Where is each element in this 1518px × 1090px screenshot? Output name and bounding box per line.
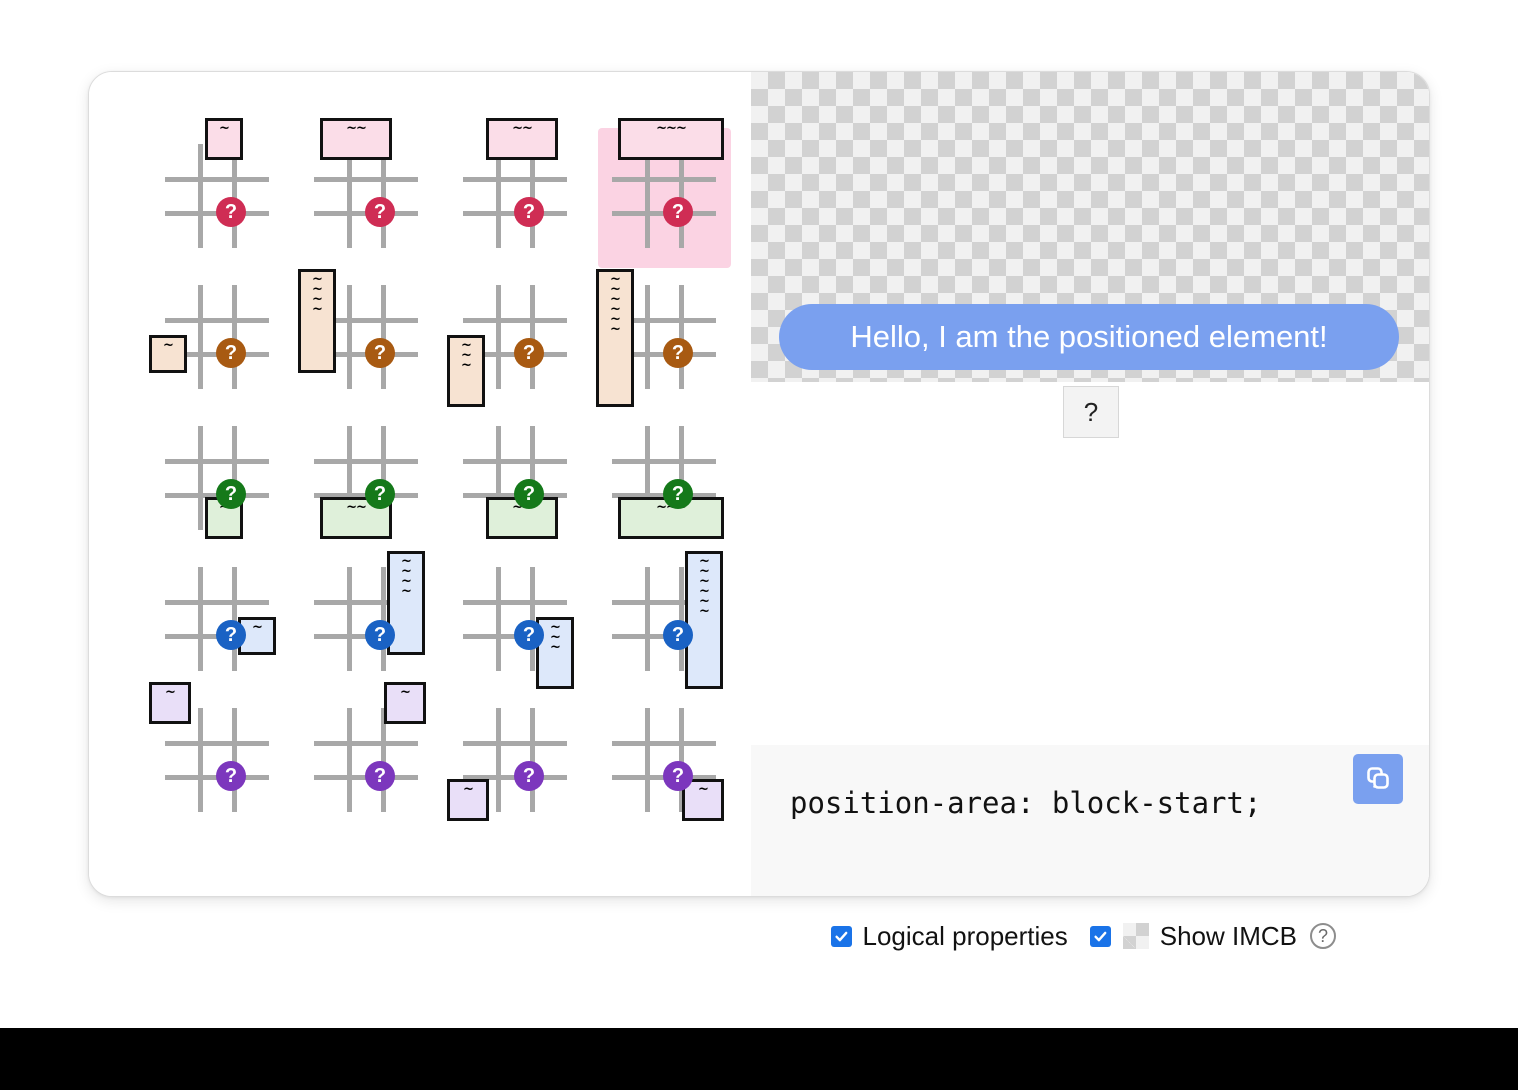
text-placeholder-line: ~ — [400, 688, 410, 698]
position-area-tile[interactable]: ~~~? — [598, 410, 731, 550]
tile-anchor-dot: ? — [365, 479, 395, 509]
containing-block-grid: ~~? — [463, 426, 567, 530]
grid-line — [347, 285, 352, 389]
containing-block-grid: ~~~~? — [314, 567, 418, 671]
text-placeholder-line: ~ — [252, 623, 262, 633]
tile-anchor-dot: ? — [663, 620, 693, 650]
position-area-tile[interactable]: ~~? — [449, 128, 582, 268]
tile-anchor-dot: ? — [514, 338, 544, 368]
tile-positioned-box: ~~~~ — [298, 269, 336, 373]
tile-anchor-dot: ? — [365, 338, 395, 368]
containing-block-grid: ~~? — [463, 144, 567, 248]
text-placeholder-line: ~ — [163, 341, 173, 351]
tile-anchor-dot: ? — [365, 197, 395, 227]
grid-line — [347, 708, 352, 812]
text-placeholder-line: ~~ — [346, 124, 366, 134]
position-area-explorer-card: ~?~~?~~?~~~?~?~~~~?~~~?~~~~~~?~?~~?~~?~~… — [88, 71, 1430, 897]
tile-anchor-dot: ? — [216, 197, 246, 227]
imcb-checkerboard-area: Hello, I am the positioned element! — [751, 72, 1429, 382]
grid-line — [612, 459, 716, 464]
position-area-tile[interactable]: ~? — [151, 128, 284, 268]
containing-block-grid: ~~~? — [463, 285, 567, 389]
tile-positioned-box: ~~~~~~ — [596, 269, 634, 407]
position-area-tile[interactable]: ~? — [300, 692, 433, 832]
text-placeholder-line: ~ — [461, 361, 471, 371]
grid-line — [314, 459, 418, 464]
positioned-element-bubble: Hello, I am the positioned element! — [779, 304, 1399, 370]
position-area-tile[interactable]: ~~~? — [449, 269, 582, 409]
grid-line — [232, 567, 237, 671]
text-placeholder-line: ~~ — [512, 124, 532, 134]
grid-line — [530, 708, 535, 812]
text-placeholder-line: ~ — [312, 305, 322, 315]
grid-line — [496, 567, 501, 671]
grid-line — [165, 459, 269, 464]
logical-properties-control[interactable]: Logical properties — [831, 923, 1068, 949]
containing-block-grid: ~~~~? — [314, 285, 418, 389]
containing-block-grid: ~? — [165, 426, 269, 530]
grid-line — [645, 285, 650, 389]
position-area-tile[interactable]: ~~~~? — [300, 551, 433, 691]
containing-block-grid: ~~~? — [612, 144, 716, 248]
containing-block-grid: ~~~~~~? — [612, 567, 716, 671]
text-placeholder-line: ~ — [610, 325, 620, 335]
containing-block-grid: ~~~~~~? — [612, 285, 716, 389]
tile-anchor-dot: ? — [216, 620, 246, 650]
grid-line — [165, 318, 269, 323]
tile-anchor-dot: ? — [514, 761, 544, 791]
grid-line — [496, 285, 501, 389]
tile-positioned-box: ~~~~~~ — [685, 551, 723, 689]
tile-positioned-box: ~~ — [486, 118, 558, 160]
text-placeholder-line: ~ — [550, 643, 560, 653]
text-placeholder-line: ~ — [219, 124, 229, 134]
tile-positioned-box: ~ — [447, 779, 489, 821]
help-icon[interactable]: ? — [1310, 923, 1336, 949]
css-declaration-text: position-area: block-start; — [790, 786, 1261, 820]
tile-positioned-box: ~~~ — [447, 335, 485, 407]
copy-icon — [1364, 764, 1392, 795]
containing-block-grid: ~? — [463, 708, 567, 812]
text-placeholder-line: ~ — [698, 785, 708, 795]
options-bar: Logical properties Show IMCB ? — [0, 923, 1428, 949]
grid-line — [165, 600, 269, 605]
tile-positioned-box: ~~~ — [618, 118, 724, 160]
position-area-tiles-pane: ~?~~?~~?~~~?~?~~~~?~~~?~~~~~~?~?~~?~~?~~… — [89, 72, 751, 896]
grid-line — [314, 177, 418, 182]
copy-code-button[interactable] — [1353, 754, 1403, 804]
tile-anchor-dot: ? — [216, 761, 246, 791]
grid-line — [198, 426, 203, 530]
tile-anchor-dot: ? — [365, 761, 395, 791]
tile-positioned-box: ~ — [384, 682, 426, 724]
grid-line — [645, 567, 650, 671]
show-imcb-checkbox[interactable] — [1090, 926, 1111, 947]
containing-block-grid: ~? — [165, 708, 269, 812]
position-area-tile[interactable]: ~~? — [449, 410, 582, 550]
grid-line — [612, 741, 716, 746]
tile-anchor-dot: ? — [663, 761, 693, 791]
grid-line — [198, 708, 203, 812]
grid-line — [679, 567, 684, 671]
position-area-tile[interactable]: ~~? — [300, 128, 433, 268]
grid-line — [165, 177, 269, 182]
tile-positioned-box: ~ — [205, 118, 243, 160]
grid-line — [381, 567, 386, 671]
grid-line — [530, 285, 535, 389]
tile-anchor-dot: ? — [663, 479, 693, 509]
containing-block-grid: ~? — [612, 708, 716, 812]
position-area-tile[interactable]: ~? — [598, 692, 731, 832]
grid-line — [198, 567, 203, 671]
position-area-tile[interactable]: ~? — [151, 269, 284, 409]
position-area-tile[interactable]: ~~~~~~? — [598, 269, 731, 409]
code-panel: position-area: block-start; — [751, 745, 1429, 896]
tile-positioned-box: ~ — [149, 682, 191, 724]
grid-line — [463, 600, 567, 605]
grid-line — [645, 708, 650, 812]
tile-anchor-dot: ? — [514, 197, 544, 227]
tile-anchor-dot: ? — [216, 338, 246, 368]
grid-line — [463, 177, 567, 182]
position-area-tile-grid: ~?~~?~~?~~~?~?~~~~?~~~?~~~~~~?~?~~?~~?~~… — [151, 128, 731, 832]
grid-line — [612, 177, 716, 182]
text-placeholder-line: ~ — [699, 607, 709, 617]
grid-line — [314, 741, 418, 746]
text-placeholder-line: ~~~ — [656, 124, 686, 134]
position-area-tile[interactable]: ~? — [151, 692, 284, 832]
grid-line — [496, 708, 501, 812]
text-placeholder-line: ~ — [463, 785, 473, 795]
grid-line — [198, 285, 203, 389]
grid-line — [165, 741, 269, 746]
preview-pane: Hello, I am the positioned element! ? po… — [751, 72, 1429, 896]
grid-line — [347, 567, 352, 671]
containing-block-grid: ~? — [165, 567, 269, 671]
tile-anchor-dot: ? — [216, 479, 246, 509]
grid-line — [463, 459, 567, 464]
position-area-tile[interactable]: ~~? — [300, 410, 433, 550]
grid-line — [679, 285, 684, 389]
position-area-tile[interactable]: ~~~? — [449, 551, 582, 691]
grid-line — [381, 285, 386, 389]
containing-block-grid: ~? — [165, 144, 269, 248]
grid-line — [463, 741, 567, 746]
tile-anchor-dot: ? — [514, 620, 544, 650]
position-area-tile[interactable]: ~? — [449, 692, 582, 832]
position-area-tile[interactable]: ~~~? — [598, 128, 731, 268]
page-bottom-strip — [0, 1028, 1518, 1090]
grid-line — [198, 144, 203, 248]
tile-positioned-box: ~~ — [320, 118, 392, 160]
containing-block-grid: ~~? — [314, 144, 418, 248]
grid-line — [530, 567, 535, 671]
containing-block-grid: ~~~? — [612, 426, 716, 530]
containing-block-grid: ~~~? — [463, 567, 567, 671]
position-area-tile[interactable]: ~? — [151, 410, 284, 550]
text-placeholder-line: ~ — [165, 688, 175, 698]
grid-line — [232, 285, 237, 389]
tile-anchor-dot: ? — [365, 620, 395, 650]
containing-block-grid: ~? — [314, 708, 418, 812]
tile-positioned-box: ~ — [149, 335, 187, 373]
checkerboard-swatch-icon — [1123, 923, 1149, 949]
position-area-tile[interactable]: ~~~~? — [300, 269, 433, 409]
logical-properties-checkbox[interactable] — [831, 926, 852, 947]
tile-anchor-dot: ? — [514, 479, 544, 509]
logical-properties-label[interactable]: Logical properties — [863, 923, 1068, 949]
position-area-tile[interactable]: ~? — [151, 551, 284, 691]
tile-anchor-dot: ? — [663, 338, 693, 368]
position-area-tile[interactable]: ~~~~~~? — [598, 551, 731, 691]
show-imcb-label[interactable]: Show IMCB — [1160, 923, 1297, 949]
containing-block-grid: ~? — [165, 285, 269, 389]
anchor-element-box[interactable]: ? — [1063, 386, 1119, 438]
tile-anchor-dot: ? — [663, 197, 693, 227]
text-placeholder-line: ~ — [401, 587, 411, 597]
containing-block-grid: ~~? — [314, 426, 418, 530]
show-imcb-control[interactable]: Show IMCB ? — [1090, 923, 1336, 949]
grid-line — [232, 708, 237, 812]
text-placeholder-line: ~~ — [346, 503, 366, 513]
grid-line — [463, 318, 567, 323]
